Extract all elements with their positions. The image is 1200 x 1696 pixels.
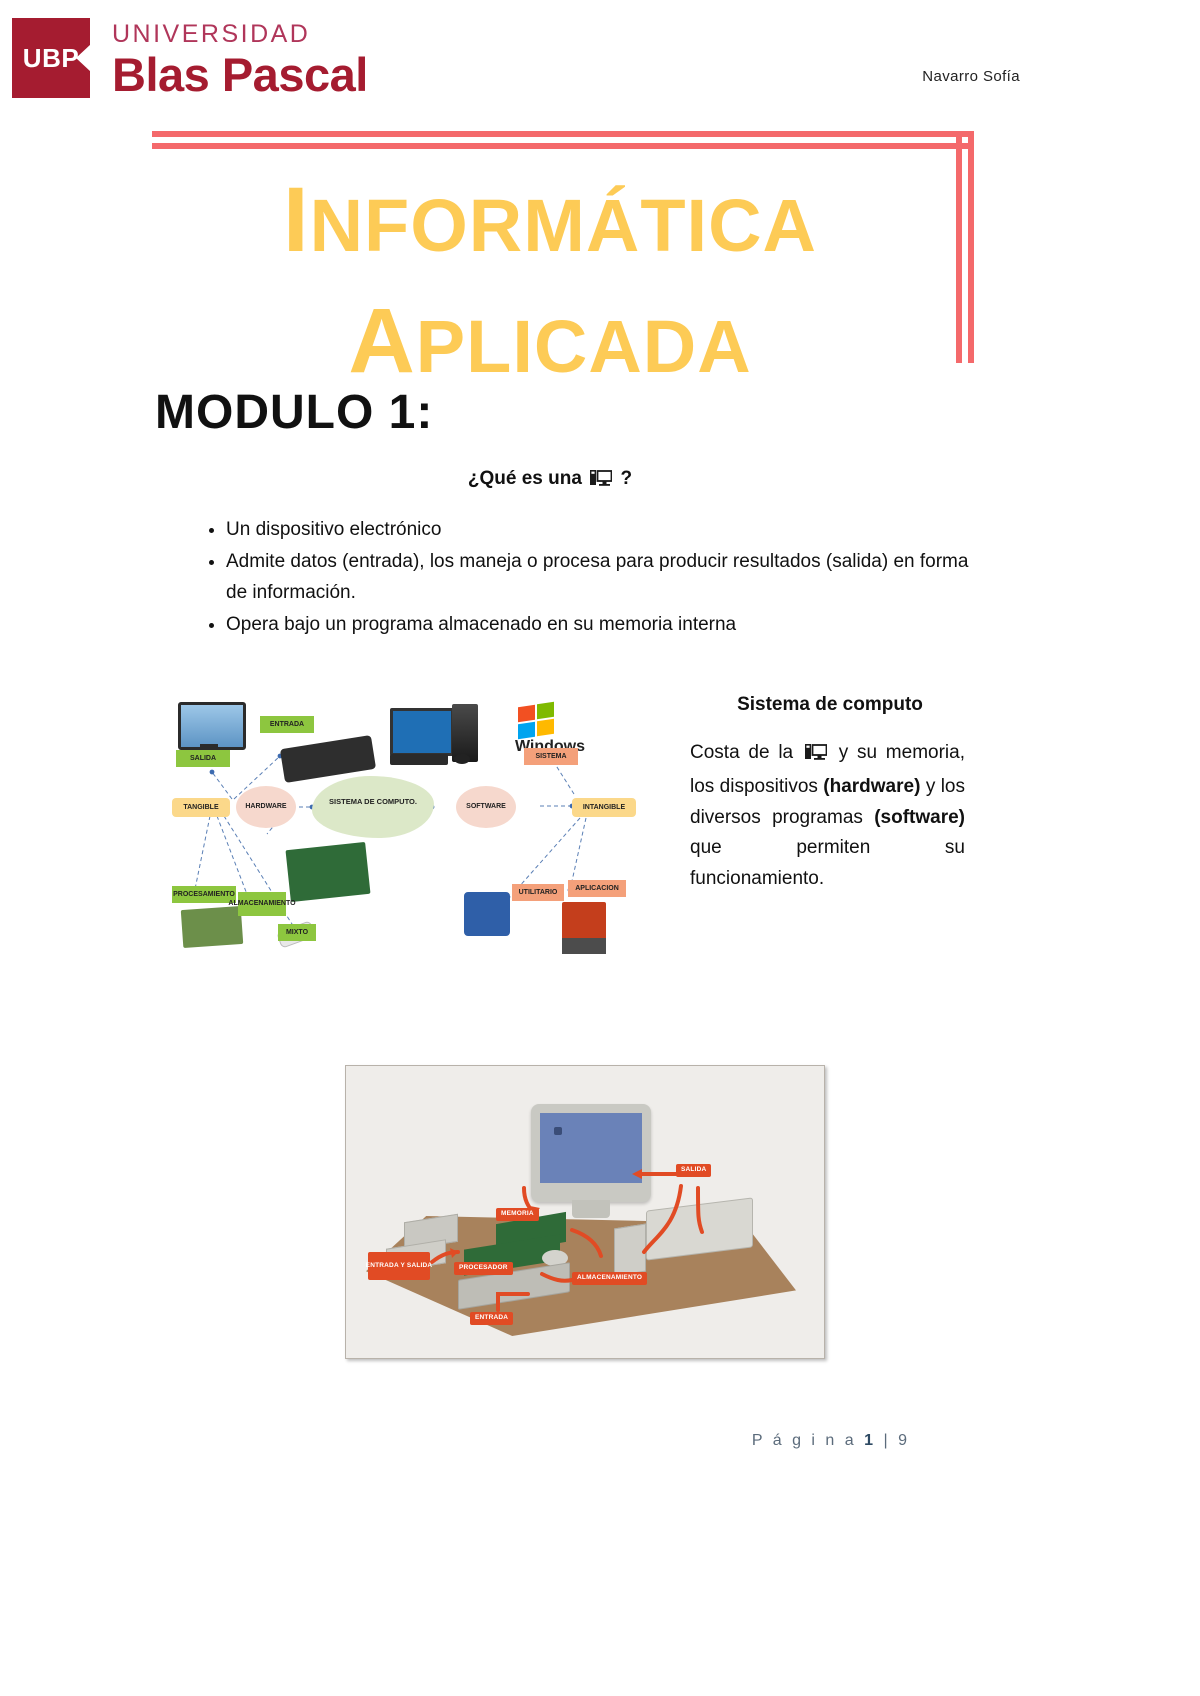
- logo-university-text: UNIVERSIDAD: [112, 22, 368, 47]
- footer-separator: |: [883, 1432, 890, 1449]
- page-footer: P á g i n a 1 | 9: [752, 1432, 910, 1450]
- logo-badge: UBP: [12, 18, 90, 98]
- sistema-text-1: Costa de la: [690, 742, 793, 763]
- decorative-rule-right: [956, 131, 962, 363]
- node-tangible: TANGIBLE: [172, 798, 230, 817]
- question-text-before: ¿Qué es una: [468, 468, 582, 489]
- question-text-after: ?: [620, 468, 632, 489]
- computer-icon: [805, 741, 827, 772]
- title-line-1: INFORMÁTICA: [150, 160, 950, 281]
- list-item: Un dispositivo electrónico: [226, 515, 978, 545]
- decorative-rule-top: [152, 131, 974, 137]
- callout-arrows: [346, 1066, 824, 1358]
- office-suite-image: [562, 938, 606, 954]
- logo-wordmark: UNIVERSIDAD Blas Pascal: [112, 18, 368, 98]
- page-title: INFORMÁTICA APLICADA: [150, 160, 950, 403]
- mindmap-diagram: Windows SISTEMA DE COMPUTO. HARDWARE SOF…: [172, 694, 672, 984]
- node-entrada: ENTRADA: [260, 716, 314, 733]
- desktop-keyboard-image: [390, 754, 448, 765]
- node-hardware-label: HARDWARE: [236, 798, 296, 816]
- list-item: Admite datos (entrada), los maneja o pro…: [226, 547, 978, 608]
- module-title: MODULO 1:: [155, 385, 433, 440]
- computer-system-illustration: SALIDA MEMORIA ENTRADA Y SALIDA PROCESAD…: [345, 1065, 825, 1359]
- decorative-rule-right-2: [968, 131, 974, 363]
- mindmap-center-label: SISTEMA DE COMPUTO.: [312, 792, 434, 812]
- desktop-monitor-image: [390, 708, 454, 756]
- footer-current-page: 1: [864, 1432, 876, 1449]
- computer-icon: [590, 470, 612, 493]
- node-intangible: INTANGIBLE: [572, 798, 636, 817]
- question-heading: ¿Qué es una ?: [150, 468, 950, 493]
- monitor-image: [178, 702, 246, 750]
- student-name: Navarro Sofía: [922, 68, 1020, 85]
- node-utilitario: UTILITARIO: [512, 884, 564, 901]
- tag-procesador: PROCESADOR: [454, 1262, 513, 1275]
- tag-salida: SALIDA: [676, 1164, 711, 1177]
- node-mixto: MIXTO: [278, 924, 316, 941]
- list-item: Opera bajo un programa almacenado en su …: [226, 610, 978, 640]
- document-page: UBP UNIVERSIDAD Blas Pascal Navarro Sofí…: [0, 0, 1200, 1696]
- node-sistema: SISTEMA: [524, 748, 578, 765]
- node-software-label: SOFTWARE: [456, 798, 516, 816]
- processor-image: [181, 906, 244, 948]
- sistema-heading: Sistema de computo: [690, 694, 970, 716]
- node-almacenamiento: ALMACENAMIENTO: [238, 892, 286, 916]
- utility-app-image: [464, 892, 510, 936]
- tag-memoria: MEMORIA: [496, 1208, 539, 1221]
- sistema-text-4: que permiten su funcionamiento.: [690, 837, 965, 889]
- footer-label: P á g i n a: [752, 1432, 857, 1449]
- tag-entrada-y-salida: ENTRADA Y SALIDA: [368, 1252, 430, 1280]
- mouse-image: [454, 754, 470, 764]
- sistema-bold-software: (software): [874, 807, 965, 828]
- definition-list: Un dispositivo electrónico Admite datos …: [188, 515, 978, 643]
- sistema-paragraph: Costa de la y su memoria, los dispositiv…: [690, 738, 965, 895]
- motherboard-image: [286, 842, 371, 902]
- node-salida: SALIDA: [176, 750, 230, 767]
- decorative-rule-top-2: [152, 143, 974, 149]
- node-aplicacion: APLICACION: [568, 880, 626, 897]
- tag-entrada: ENTRADA: [470, 1312, 513, 1325]
- tag-almacenamiento: ALMACENAMIENTO: [572, 1272, 647, 1285]
- logo-name-text: Blas Pascal: [112, 51, 368, 98]
- tower-image: [452, 704, 478, 762]
- logo-badge-text: UBP: [23, 43, 79, 74]
- node-procesamiento: PROCESAMIENTO: [172, 886, 236, 903]
- ubp-logo: UBP UNIVERSIDAD Blas Pascal: [12, 18, 368, 98]
- sistema-bold-hardware: (hardware): [823, 776, 920, 797]
- footer-total-pages: 9: [898, 1432, 910, 1449]
